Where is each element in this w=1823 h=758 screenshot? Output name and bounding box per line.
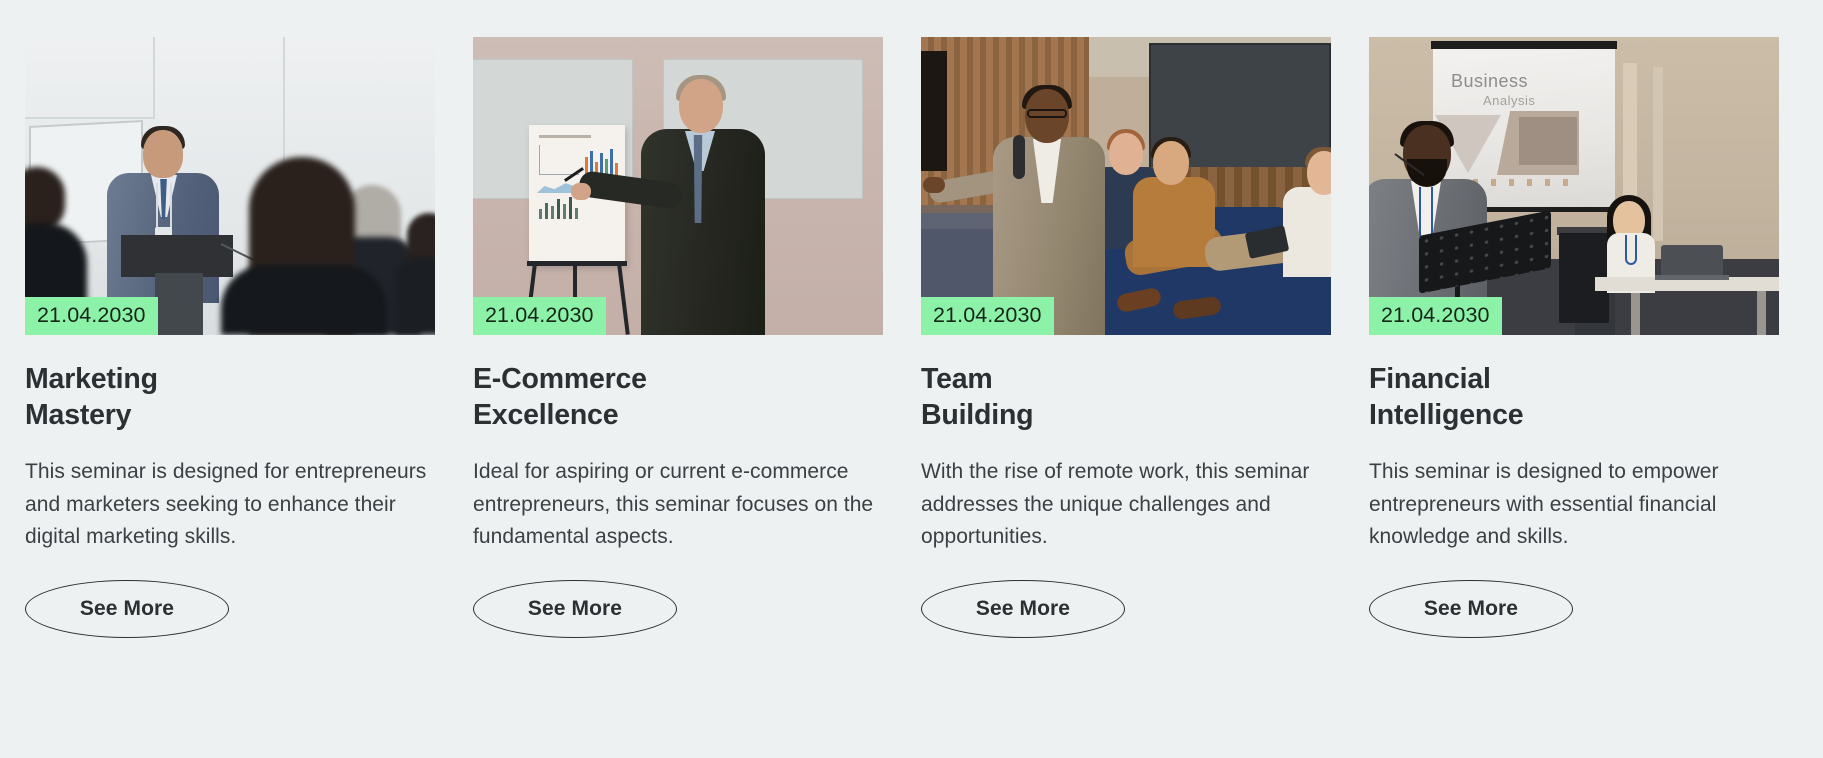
seminar-card: 21.04.2030 E-Commerce Excellence Ideal f… [473, 37, 883, 737]
conference-podium-scene [25, 37, 435, 335]
seminar-card: Business Analysis [1369, 37, 1779, 737]
card-description: Ideal for aspiring or current e-commerce… [473, 456, 883, 554]
card-title: Team Building [921, 361, 1331, 434]
card-image: 21.04.2030 [921, 37, 1331, 335]
card-action-area: See More [921, 580, 1331, 638]
slide-subtitle: Analysis [1483, 93, 1535, 108]
card-description: This seminar is designed for entrepreneu… [25, 456, 435, 554]
card-action-area: See More [473, 580, 883, 638]
card-action-area: See More [25, 580, 435, 638]
date-badge: 21.04.2030 [25, 297, 158, 336]
flipchart-presentation-scene [473, 37, 883, 335]
card-title: Marketing Mastery [25, 361, 435, 434]
slide-title: Business [1451, 71, 1528, 92]
card-image: 21.04.2030 [25, 37, 435, 335]
seminar-card: 21.04.2030 Marketing Mastery This semina… [25, 37, 435, 737]
date-badge: 21.04.2030 [473, 297, 606, 336]
card-title: Financial Intelligence [1369, 361, 1779, 434]
date-badge: 21.04.2030 [1369, 297, 1502, 336]
card-image: 21.04.2030 [473, 37, 883, 335]
card-description: With the rise of remote work, this semin… [921, 456, 1331, 554]
card-title: E-Commerce Excellence [473, 361, 883, 434]
business-analysis-presentation-scene: Business Analysis [1369, 37, 1779, 335]
card-description: This seminar is designed to empower entr… [1369, 456, 1779, 554]
see-more-button[interactable]: See More [25, 580, 229, 638]
date-badge: 21.04.2030 [921, 297, 1054, 336]
card-image: Business Analysis [1369, 37, 1779, 335]
seminar-card: 21.04.2030 Team Building With the rise o… [921, 37, 1331, 737]
see-more-button[interactable]: See More [921, 580, 1125, 638]
seminar-cards-page: 21.04.2030 Marketing Mastery This semina… [0, 0, 1823, 758]
see-more-button[interactable]: See More [473, 580, 677, 638]
panel-discussion-scene [921, 37, 1331, 335]
see-more-button[interactable]: See More [1369, 580, 1573, 638]
seminar-card-grid: 21.04.2030 Marketing Mastery This semina… [25, 37, 1778, 737]
card-action-area: See More [1369, 580, 1779, 638]
